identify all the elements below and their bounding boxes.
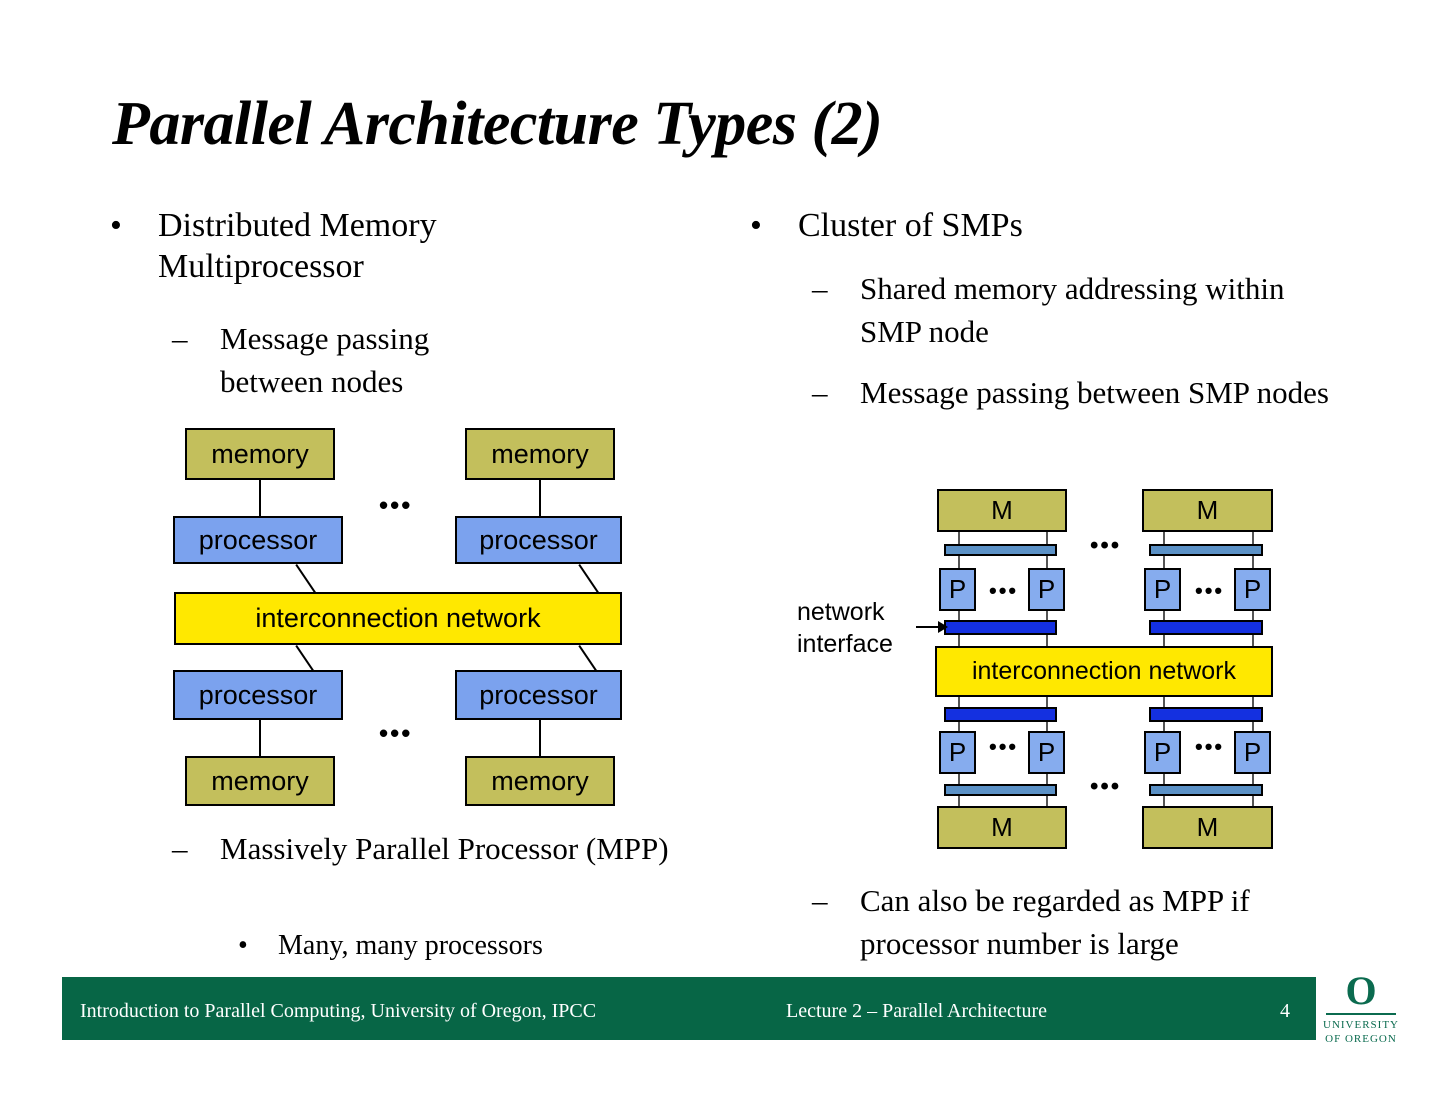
right-bullet-cluster-of-smps: • Cluster of SMPs bbox=[750, 205, 1200, 246]
smp-ellipsis-top-nodes: ••• bbox=[1090, 534, 1121, 558]
network-interface-line-2: interface bbox=[797, 628, 917, 660]
smp-ellipsis-top-right-procs: ••• bbox=[1195, 580, 1224, 602]
dmm-wire-mem-proc-top-left bbox=[259, 480, 261, 516]
smp-memory-bus-top-right bbox=[1149, 544, 1263, 556]
right-sub-mpp-if-large: – Can also be regarded as MPP if process… bbox=[812, 880, 1372, 966]
dmm-memory-top-left: memory bbox=[185, 428, 335, 480]
bullet-marker: • bbox=[238, 928, 248, 964]
right-sub-shared-memory-label: Shared memory addressing within SMP node bbox=[860, 268, 1292, 354]
right-sub-message-passing: – Message passing between SMP nodes bbox=[812, 372, 1372, 415]
smp-memory-bottom-left: M bbox=[937, 806, 1067, 849]
dmm-wire-mem-proc-top-right bbox=[539, 480, 541, 516]
left-sub-message-passing-label: Message passing between nodes bbox=[220, 318, 512, 404]
left-bullet-distributed-memory: • Distributed Memory Multiprocessor bbox=[110, 205, 550, 288]
network-interface-arrow-icon bbox=[916, 617, 948, 637]
smp-processor-bottom-right-2: P bbox=[1234, 731, 1271, 774]
right-bullet-cluster-of-smps-label: Cluster of SMPs bbox=[798, 205, 1200, 246]
oregon-o-icon: O bbox=[1345, 972, 1376, 1010]
smp-processor-bottom-right-1: P bbox=[1144, 731, 1181, 774]
dmm-memory-top-right: memory bbox=[465, 428, 615, 480]
logo-subtitle-of-oregon: OF OREGON bbox=[1325, 1033, 1397, 1047]
dmm-link-proc-net-top-right bbox=[578, 564, 599, 593]
network-interface-callout: network interface bbox=[797, 596, 917, 660]
dmm-ellipsis-bottom: ••• bbox=[379, 720, 412, 746]
bullet-marker: • bbox=[110, 205, 122, 246]
dmm-wire-proc-mem-bottom-left bbox=[259, 720, 261, 756]
smp-processor-bottom-left-2: P bbox=[1028, 731, 1065, 774]
dmm-interconnection-network: interconnection network bbox=[174, 592, 622, 645]
smp-memory-top-right: M bbox=[1142, 489, 1273, 532]
dmm-processor-top-right: processor bbox=[455, 516, 622, 564]
logo-divider bbox=[1326, 1013, 1396, 1015]
dash-marker: – bbox=[812, 268, 828, 311]
left-bullet-distributed-memory-label: Distributed Memory Multiprocessor bbox=[158, 205, 550, 288]
smp-network-interface-bottom-right bbox=[1149, 707, 1263, 722]
right-sub-message-passing-label: Message passing between SMP nodes bbox=[860, 372, 1372, 415]
dash-marker: – bbox=[172, 828, 188, 871]
left-sub-message-passing: – Message passing between nodes bbox=[172, 318, 512, 404]
dmm-processor-top-left: processor bbox=[173, 516, 343, 564]
left-sub-mpp-label: Massively Parallel Processor (MPP) bbox=[220, 828, 692, 871]
smp-processor-top-right-2: P bbox=[1234, 568, 1271, 611]
dmm-memory-bottom-right: memory bbox=[465, 756, 615, 806]
smp-memory-top-left: M bbox=[937, 489, 1067, 532]
left-sub-many-processors: • Many, many processors bbox=[238, 928, 698, 964]
dmm-wire-proc-mem-bottom-right bbox=[539, 720, 541, 756]
dmm-link-proc-net-top-left bbox=[295, 564, 316, 593]
dmm-processor-bottom-left: processor bbox=[173, 670, 343, 720]
footer-page-number: 4 bbox=[1280, 1000, 1290, 1023]
smp-processor-top-left-2: P bbox=[1028, 568, 1065, 611]
smp-memory-bus-top-left bbox=[944, 544, 1057, 556]
smp-interconnection-network: interconnection network bbox=[935, 646, 1273, 697]
smp-memory-bus-bottom-left bbox=[944, 784, 1057, 796]
network-interface-line-1: network bbox=[797, 596, 917, 628]
smp-processor-top-right-1: P bbox=[1144, 568, 1181, 611]
smp-network-interface-top-left bbox=[944, 620, 1057, 635]
right-sub-mpp-if-large-label: Can also be regarded as MPP if processor… bbox=[860, 880, 1372, 966]
right-sub-shared-memory: – Shared memory addressing within SMP no… bbox=[812, 268, 1292, 354]
footer-left-text: Introduction to Parallel Computing, Univ… bbox=[80, 1000, 596, 1023]
dash-marker: – bbox=[172, 318, 188, 361]
left-sub-mpp: – Massively Parallel Processor (MPP) bbox=[172, 828, 692, 871]
smp-ellipsis-top-left-procs: ••• bbox=[989, 580, 1018, 602]
smp-processor-bottom-left-1: P bbox=[939, 731, 976, 774]
dmm-memory-bottom-left: memory bbox=[185, 756, 335, 806]
smp-ellipsis-bottom-right-procs: ••• bbox=[1195, 736, 1224, 758]
smp-ellipsis-bottom-left-procs: ••• bbox=[989, 736, 1018, 758]
page-title: Parallel Architecture Types (2) bbox=[112, 92, 1352, 157]
university-of-oregon-logo: O UNIVERSITY OF OREGON bbox=[1316, 966, 1406, 1052]
logo-subtitle-university: UNIVERSITY bbox=[1323, 1019, 1399, 1033]
left-sub-many-processors-label: Many, many processors bbox=[278, 928, 698, 964]
dash-marker: – bbox=[812, 372, 828, 415]
smp-network-interface-top-right bbox=[1149, 620, 1263, 635]
smp-memory-bus-bottom-right bbox=[1149, 784, 1263, 796]
smp-network-interface-bottom-left bbox=[944, 707, 1057, 722]
dmm-processor-bottom-right: processor bbox=[455, 670, 622, 720]
footer-center-text: Lecture 2 – Parallel Architecture bbox=[786, 1000, 1047, 1023]
smp-ellipsis-bottom-nodes: ••• bbox=[1090, 775, 1121, 799]
smp-memory-bottom-right: M bbox=[1142, 806, 1273, 849]
dash-marker: – bbox=[812, 880, 828, 923]
smp-processor-top-left-1: P bbox=[939, 568, 976, 611]
dmm-ellipsis-top: ••• bbox=[379, 492, 412, 518]
bullet-marker: • bbox=[750, 205, 762, 246]
slide-canvas: Parallel Architecture Types (2) • Distri… bbox=[0, 0, 1440, 1113]
